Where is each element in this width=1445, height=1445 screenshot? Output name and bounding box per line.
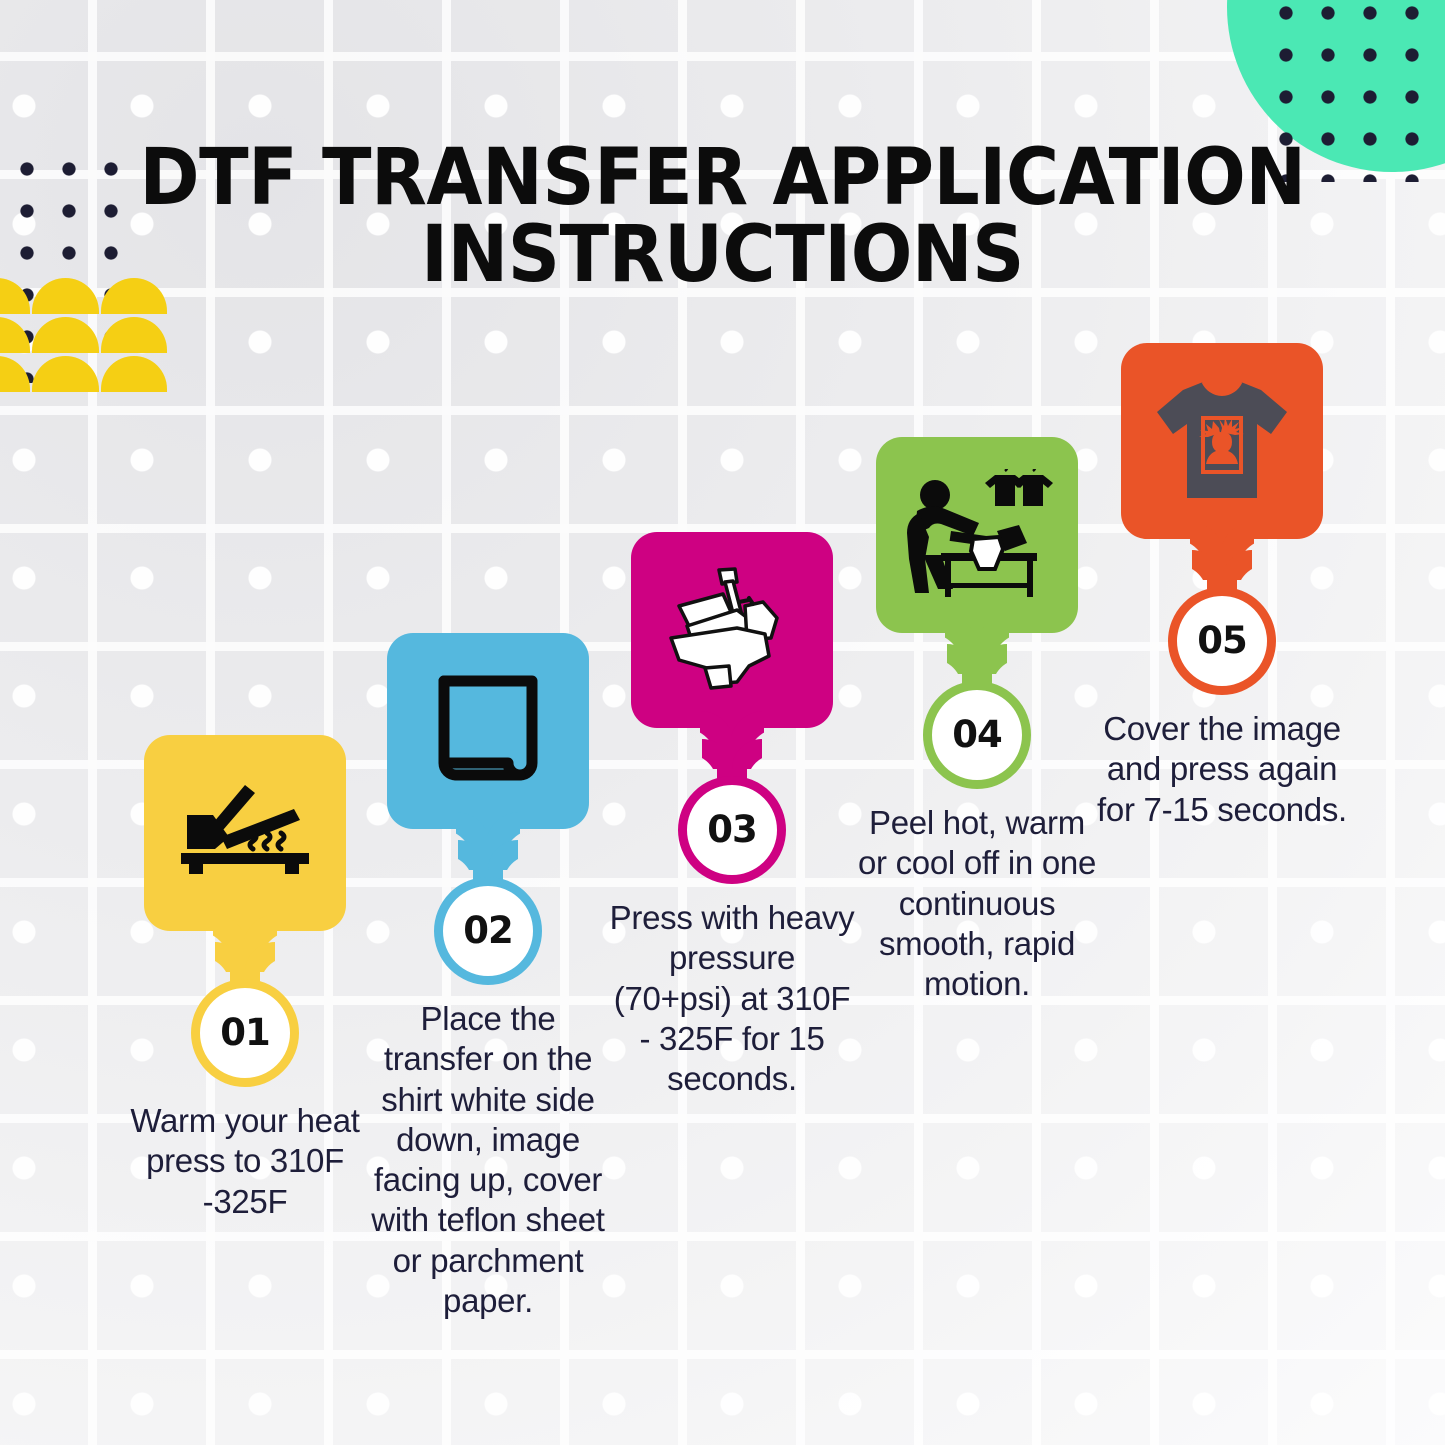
step-01: 01 Warm your heat press to 310F -325F [120, 735, 370, 1222]
page-title: DTF TRANSFER APPLICATION INSTRUCTIONS [51, 140, 1395, 294]
step-02: 02 Place the transfer on the shirt white… [363, 633, 613, 1321]
person-pressing-shirt-icon [899, 469, 1055, 601]
transfer-sheet-icon [430, 671, 546, 791]
step-05-text: Cover the image and press again for 7-15… [1097, 709, 1347, 830]
step-03: 03 Press with heavy pressure (70+psi) at… [607, 532, 857, 1099]
step-03-number: 03 [707, 808, 757, 851]
step-05-number: 05 [1197, 619, 1247, 662]
step-03-badge: 03 [678, 776, 786, 884]
step-04-icon-card [876, 437, 1078, 633]
step-04-number: 04 [952, 713, 1002, 756]
step-02-badge-wrap: 02 [434, 877, 542, 985]
step-01-badge: 01 [191, 979, 299, 1087]
step-04: 04 Peel hot, warm or cool off in one con… [852, 437, 1102, 1004]
step-05-badge: 05 [1168, 587, 1276, 695]
heat-press-machine-icon [661, 566, 803, 694]
step-04-badge: 04 [923, 681, 1031, 789]
step-02-number: 02 [463, 909, 513, 952]
step-05-icon-card [1121, 343, 1323, 539]
step-04-text: Peel hot, warm or cool off in one contin… [852, 803, 1102, 1004]
step-03-icon-card [631, 532, 833, 728]
step-03-badge-wrap: 03 [678, 776, 786, 884]
step-01-number: 01 [220, 1011, 270, 1054]
step-04-badge-wrap: 04 [923, 681, 1031, 789]
step-02-text: Place the transfer on the shirt white si… [363, 999, 613, 1321]
heat-press-open-icon [175, 779, 315, 887]
step-05: 05 Cover the image and press again for 7… [1097, 343, 1347, 830]
step-02-icon-card [387, 633, 589, 829]
page-title-line-2: INSTRUCTIONS [51, 217, 1395, 294]
step-01-icon-card [144, 735, 346, 931]
step-02-badge: 02 [434, 877, 542, 985]
step-05-badge-wrap: 05 [1168, 587, 1276, 695]
step-03-text: Press with heavy pressure (70+psi) at 31… [607, 898, 857, 1099]
step-01-text: Warm your heat press to 310F -325F [120, 1101, 370, 1222]
printed-tshirt-icon [1153, 376, 1291, 506]
step-01-badge-wrap: 01 [191, 979, 299, 1087]
